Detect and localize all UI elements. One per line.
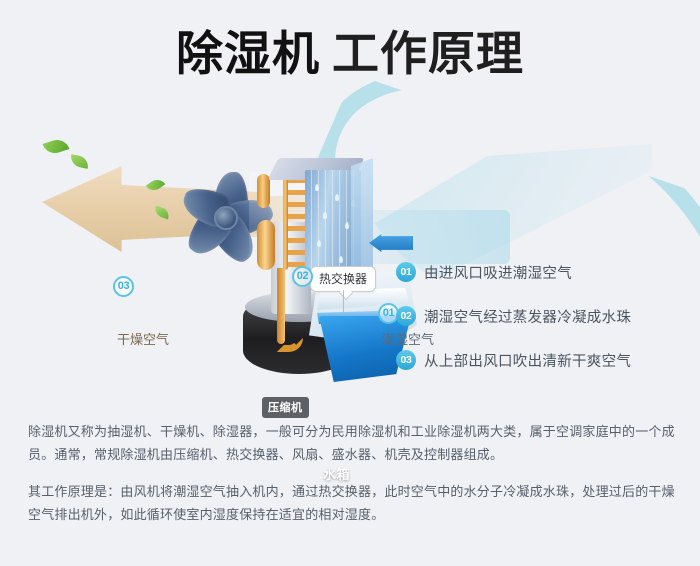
humid-air-inlet-arrow (369, 234, 413, 252)
compressor-label: 压缩机 (262, 397, 309, 418)
diagram-badge-02: 02 (292, 266, 313, 287)
legend-item: 03 从上部出风口吹出清新干爽空气 (396, 343, 686, 377)
legend-badge-02: 02 (396, 306, 416, 326)
page-title-part2: 工作原理 (332, 27, 524, 80)
legend-item: 01 由进风口吸进潮湿空气 (396, 255, 686, 289)
drain-pipe (277, 268, 285, 344)
legend-text-01: 由进风口吸进潮湿空气 (424, 262, 572, 283)
legend-item: 02 潮湿空气经过蒸发器冷凝成水珠 (396, 299, 686, 333)
dry-air-label: 干燥空气 (117, 329, 169, 348)
page-title: 除湿机工作原理 (0, 28, 700, 80)
leaf-icon (43, 137, 70, 157)
legend-badge-03: 03 (396, 350, 416, 370)
legend-list: 01 由进风口吸进潮湿空气 02 潮湿空气经过蒸发器冷凝成水珠 03 从上部出风… (396, 255, 686, 387)
heat-exchanger-callout-stem (343, 290, 344, 312)
legend-badge-01: 01 (396, 262, 416, 282)
description-copy: 除湿机又称为抽湿机、干燥机、除湿器，一般可分为民用除湿机和工业除湿机两大类，属于… (28, 420, 676, 526)
legend-text-02: 潮湿空气经过蒸发器冷凝成水珠 (424, 306, 631, 327)
legend-text-03: 从上部出风口吹出清新干爽空气 (424, 350, 631, 371)
heat-exchanger-callout: 热交换器 (310, 266, 376, 292)
description-paragraph-1: 除湿机又称为抽湿机、干燥机、除湿器，一般可分为民用除湿机和工业除湿机两大类，属于… (28, 420, 676, 466)
diagram-badge-03: 03 (113, 276, 134, 297)
page-title-part1: 除湿机 (176, 27, 320, 80)
leaf-icon (69, 154, 90, 169)
description-paragraph-2: 其工作原理是：由风机将潮湿空气抽入机内，通过热交换器，此时空气中的水分子冷凝成水… (28, 480, 676, 526)
